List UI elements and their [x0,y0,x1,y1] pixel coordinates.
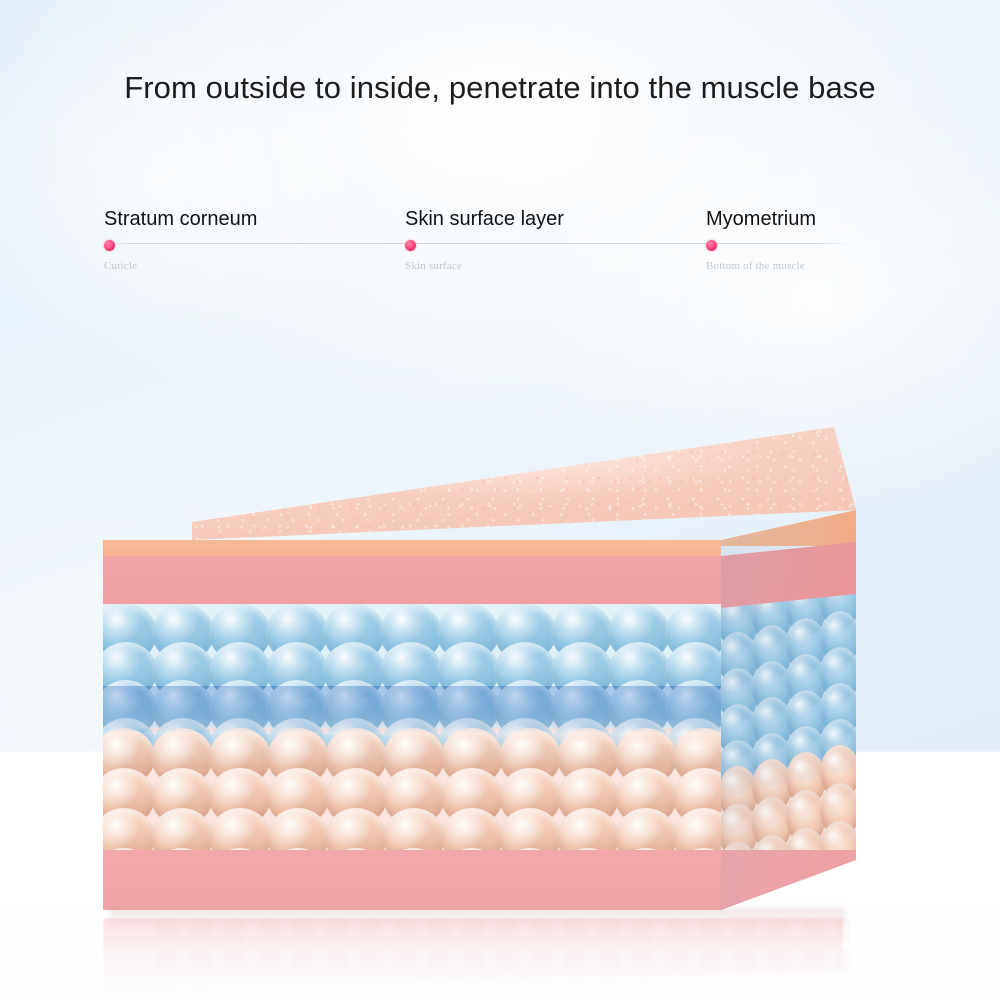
stratum-corneum-texture [96,410,856,540]
layer-base-band [103,850,721,916]
block-reflection-bubbles [150,915,850,1000]
skincare-infographic: From outside to inside, penetrate into t… [0,0,1000,1000]
peach-sphere-grid [103,728,721,854]
sphere [35,808,97,866]
sphere [38,718,100,776]
sphere [38,642,100,700]
sphere [38,680,100,738]
skin-cross-section-block [0,0,1000,1000]
layer-pink-band [103,556,721,604]
side-face-shading [721,506,856,926]
sphere [38,604,100,662]
sphere [35,728,97,786]
sphere [35,848,97,906]
sphere [35,768,97,826]
